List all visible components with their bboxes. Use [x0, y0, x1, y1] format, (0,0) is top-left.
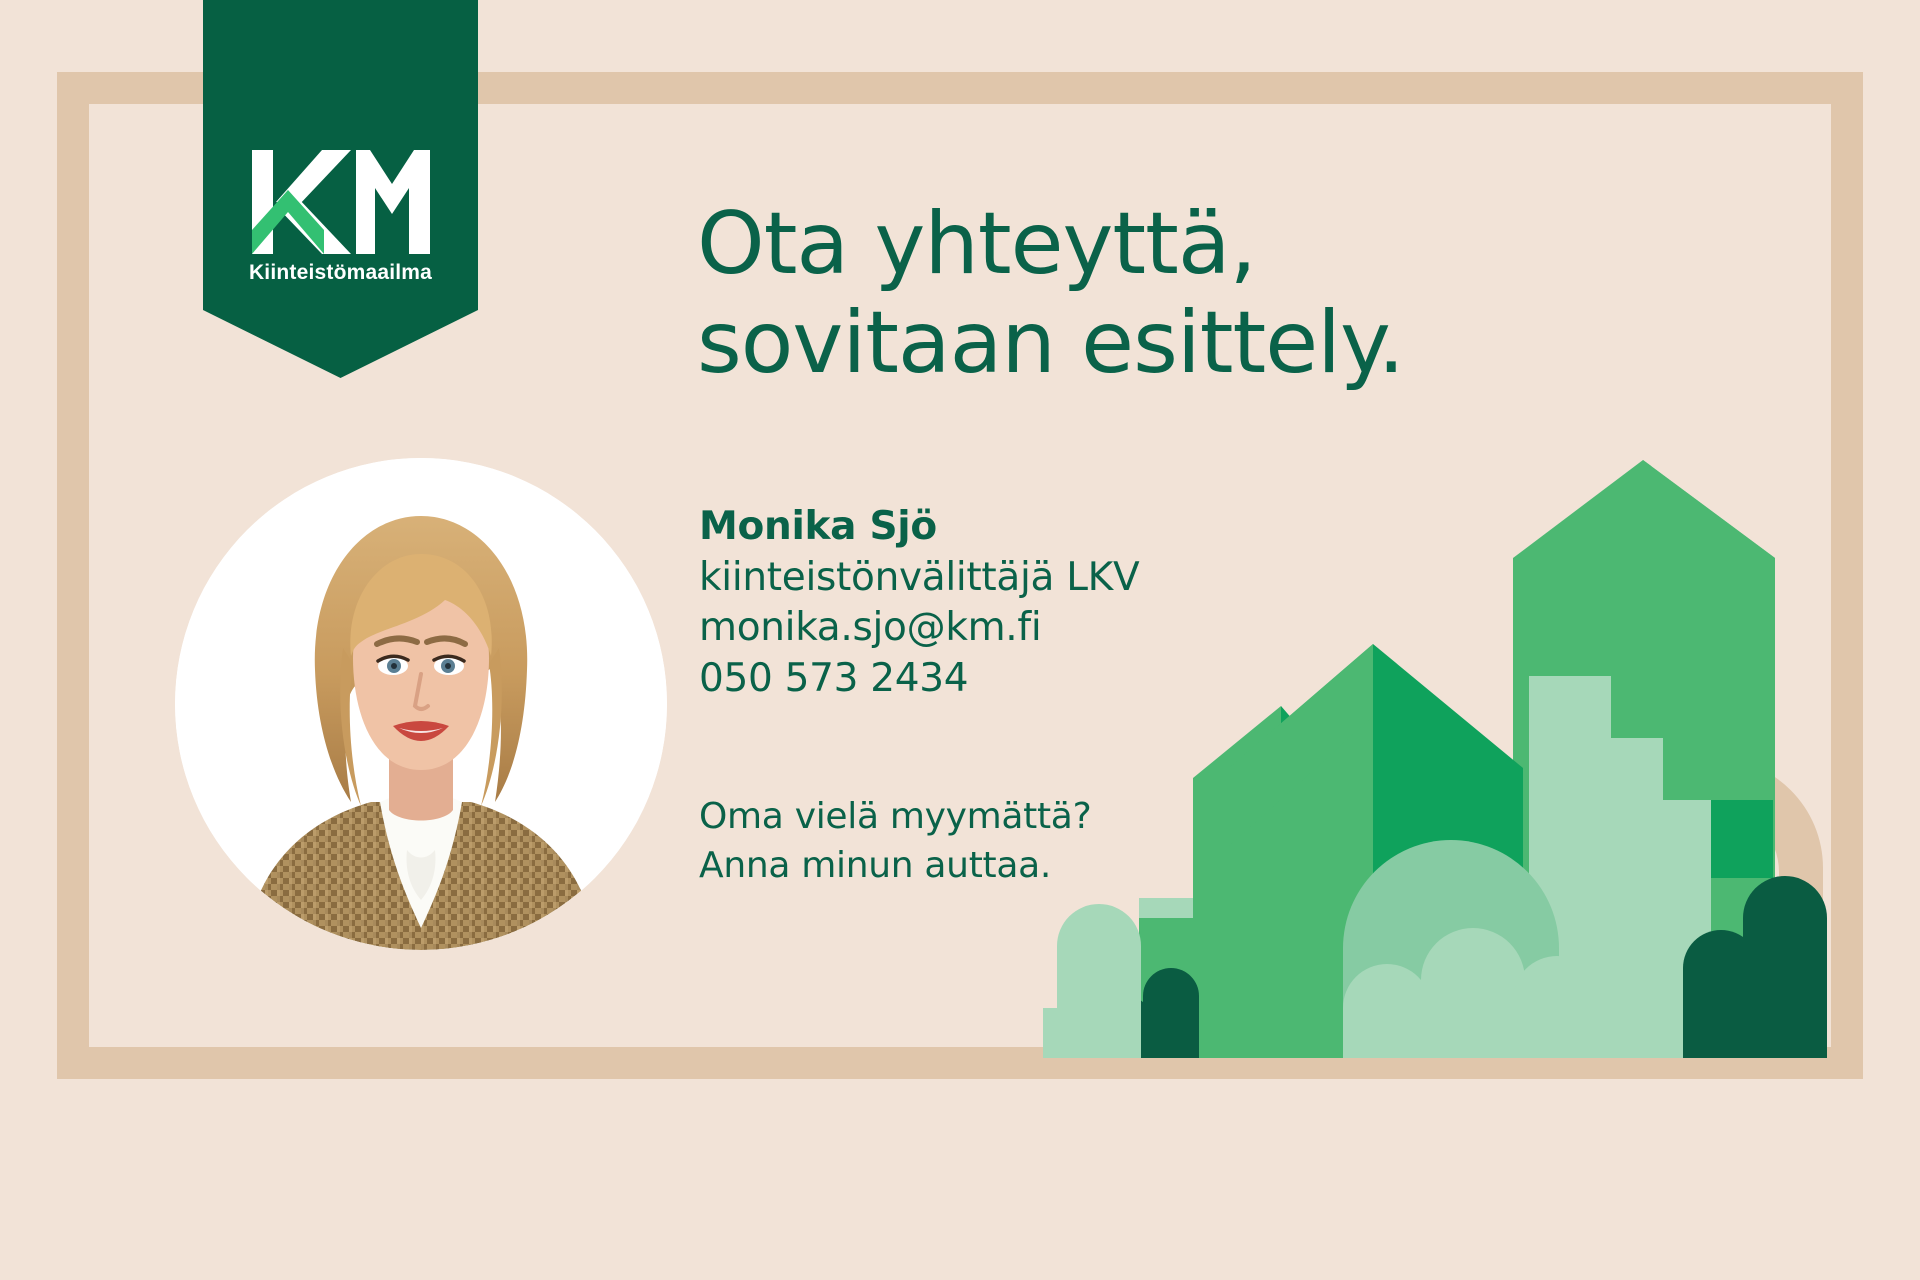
avatar [175, 458, 667, 950]
cta-line-2: Anna minun auttaa. [699, 842, 1091, 891]
agent-photo [175, 458, 667, 950]
logo-wordmark: Kiinteistömaailma [249, 261, 432, 285]
cityscape-svg [1043, 448, 1863, 1058]
cta-line-1: Oma vielä myymättä? [699, 793, 1091, 842]
green-cityscape-illustration [1043, 448, 1863, 1058]
contact-card: Kiinteistömaailma Ota yhteyttä, sovitaan… [0, 0, 1920, 1280]
cta-block: Oma vielä myymättä? Anna minun auttaa. [699, 793, 1091, 890]
logo-banner: Kiinteistömaailma [203, 0, 478, 378]
km-logo-icon [252, 150, 430, 254]
logo-wrap: Kiinteistömaailma [203, 150, 478, 285]
page-title: Ota yhteyttä, sovitaan esittely. [697, 195, 1404, 393]
